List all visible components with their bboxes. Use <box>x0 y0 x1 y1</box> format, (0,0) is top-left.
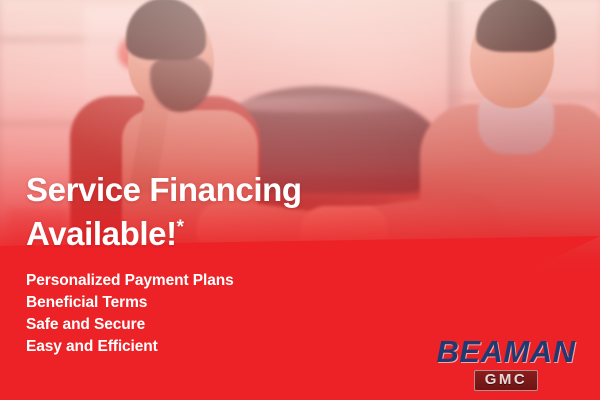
headline: Service Financing Available!* <box>26 168 446 256</box>
headline-line-2: Available!* <box>26 212 446 256</box>
headline-line-1: Service Financing <box>26 168 446 212</box>
headline-line-2-text: Available! <box>26 215 177 252</box>
benefits-list: Personalized Payment Plans Beneficial Te… <box>26 270 234 358</box>
list-item: Beneficial Terms <box>26 292 234 314</box>
customer-hair <box>476 0 556 52</box>
list-item: Safe and Secure <box>26 314 234 336</box>
service-financing-banner: Service Financing Available!* Personaliz… <box>0 0 600 400</box>
dealer-name: BEAMAN <box>424 336 588 367</box>
list-item: Personalized Payment Plans <box>26 270 234 292</box>
disclaimer-asterisk: * <box>177 217 184 238</box>
dealer-logo: BEAMAN GMC <box>424 336 588 391</box>
list-item: Easy and Efficient <box>26 336 234 358</box>
gmc-brand-badge: GMC <box>474 370 539 391</box>
